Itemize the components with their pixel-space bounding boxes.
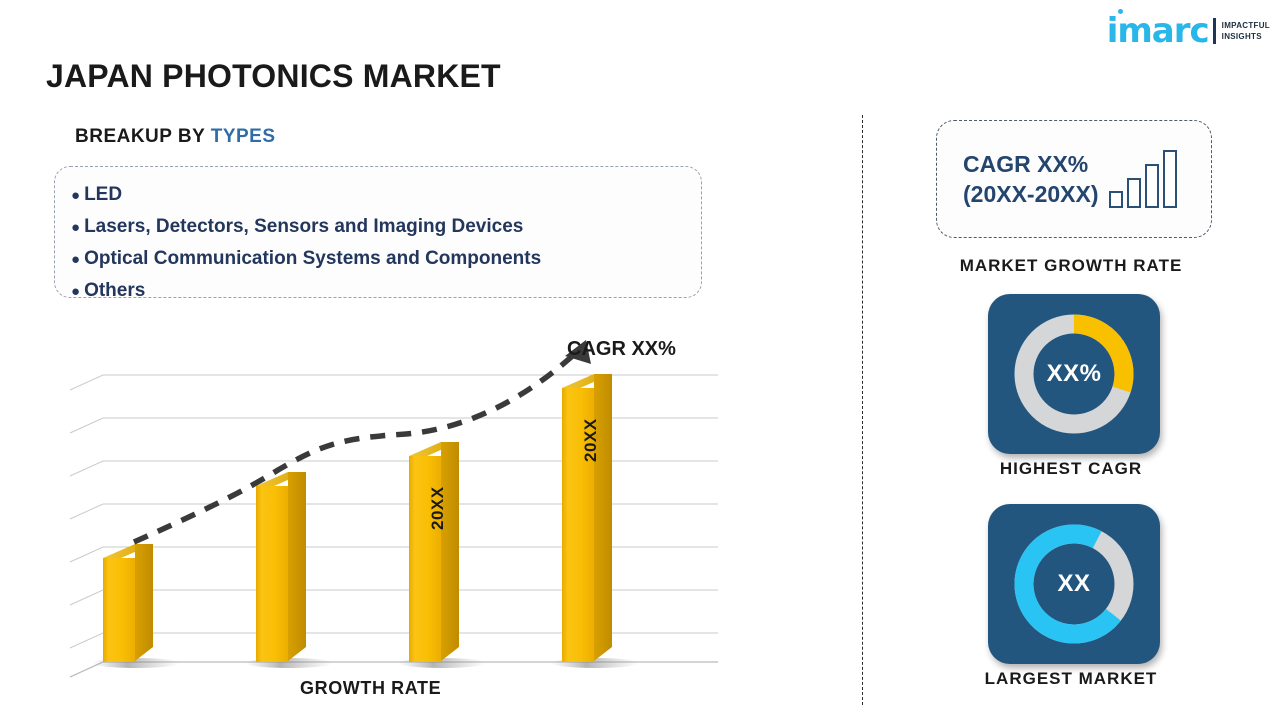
bullet-dot-icon: ● [71,283,80,300]
bar-1 [103,544,153,662]
highest-cagr-value: XX% [988,294,1160,454]
page-title: JAPAN PHOTONICS MARKET [46,58,501,95]
list-item-label: Others [84,280,145,301]
bar-label-4: 20XX [581,418,601,462]
largest-market-label: LARGEST MARKET [862,669,1280,689]
section-subtitle: BREAKUP BY TYPES [75,126,276,148]
largest-market-tile: XX [988,504,1160,664]
bullet-dot-icon: ● [71,187,80,204]
trend-line [134,340,591,542]
bar-shadows [92,658,639,668]
bullet-dot-icon: ● [71,251,80,268]
bar-label-3: 20XX [428,486,448,530]
x-axis-label: GROWTH RATE [300,678,441,699]
list-item-label: LED [84,184,122,205]
list-item-label: Optical Communication Systems and Compon… [84,248,541,269]
bar-2 [256,472,306,662]
list-item-label: Lasers, Detectors, Sensors and Imaging D… [84,216,523,237]
list-item: ●Lasers, Detectors, Sensors and Imaging … [71,211,701,243]
bar-3 [409,442,459,662]
highest-cagr-tile: XX% [988,294,1160,454]
chart-canvas [46,330,756,710]
highest-cagr-label: HIGHEST CAGR [862,459,1280,479]
subtitle-highlight: TYPES [211,126,276,147]
list-item: ●Others [71,275,701,307]
subtitle-prefix: BREAKUP BY [75,126,211,147]
list-item: ●LED [71,179,701,211]
growth-rate-bar-chart: 20XX 20XX [46,330,756,710]
bullet-dot-icon: ● [71,219,80,236]
market-growth-rate-label: MARKET GROWTH RATE [862,256,1280,276]
infographic-page: imarc IMPACTFUL INSIGHTS JAPAN PHOTONICS… [0,0,1280,720]
chart-cagr-annotation: CAGR XX% [567,338,676,361]
types-breakup-box: ●LED ●Lasers, Detectors, Sensors and Ima… [54,166,702,298]
list-item: ●Optical Communication Systems and Compo… [71,243,701,275]
largest-market-value: XX [988,504,1160,664]
